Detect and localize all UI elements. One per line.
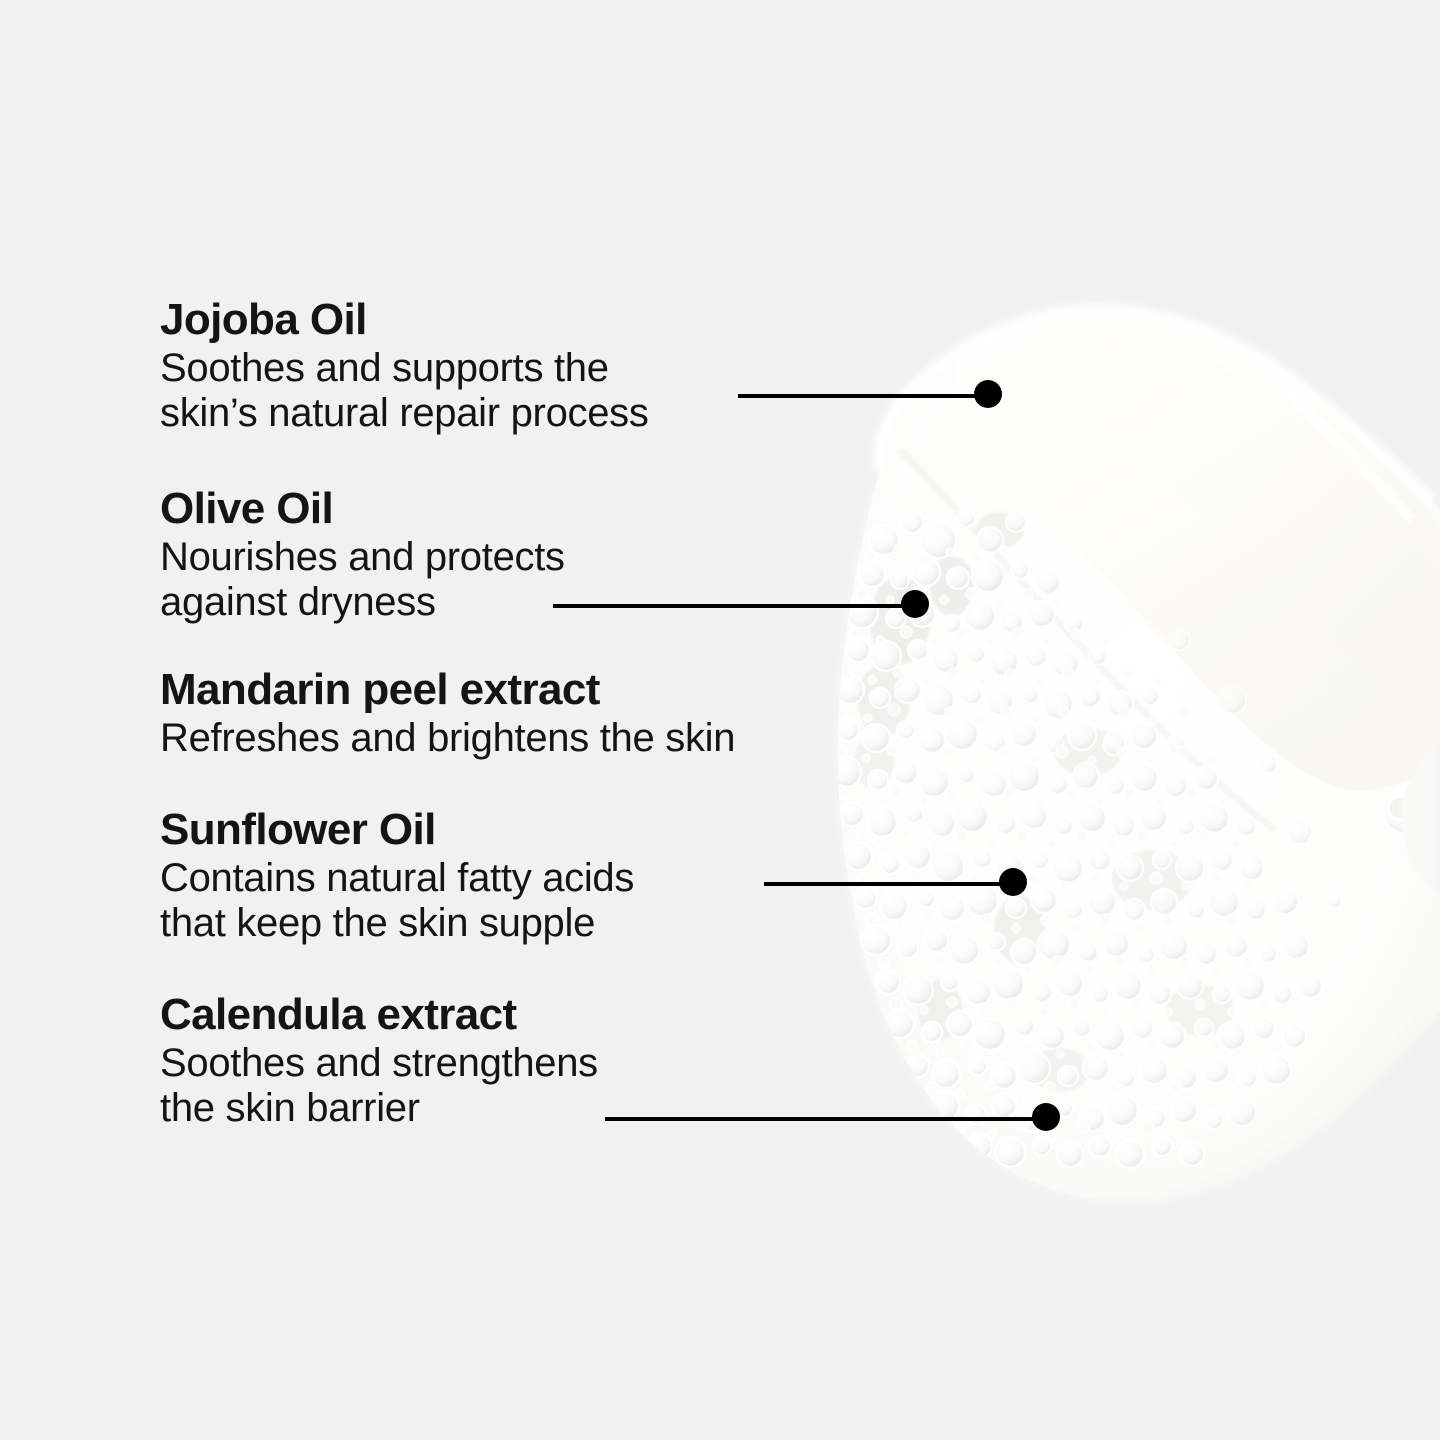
leader-dot-calendula xyxy=(1032,1103,1060,1131)
callout-description-calendula: Soothes and strengthens the skin barrier xyxy=(160,1041,598,1131)
leader-dot-sunflower xyxy=(999,868,1027,896)
callout-title-mandarin: Mandarin peel extract xyxy=(160,668,735,712)
callout-description-sunflower: Contains natural fatty acids that keep t… xyxy=(160,856,634,946)
leader-line-calendula xyxy=(605,1117,1034,1121)
leader-line-jojoba xyxy=(738,394,976,398)
callout-sunflower: Sunflower Oil Contains natural fatty aci… xyxy=(160,808,634,946)
leader-line-olive xyxy=(553,604,903,608)
callout-description-jojoba: Soothes and supports the skin’s natural … xyxy=(160,346,649,436)
callout-description-olive: Nourishes and protects against dryness xyxy=(160,535,565,625)
callout-description-mandarin: Refreshes and brightens the skin xyxy=(160,716,735,761)
callout-title-calendula: Calendula extract xyxy=(160,993,598,1037)
leader-dot-jojoba xyxy=(974,380,1002,408)
callout-jojoba: Jojoba Oil Soothes and supports the skin… xyxy=(160,298,649,436)
infographic-canvas: Jojoba Oil Soothes and supports the skin… xyxy=(0,0,1440,1440)
leader-dot-olive xyxy=(901,590,929,618)
callout-mandarin: Mandarin peel extract Refreshes and brig… xyxy=(160,668,735,761)
leader-line-sunflower xyxy=(764,882,1001,886)
callout-title-sunflower: Sunflower Oil xyxy=(160,808,634,852)
callout-title-olive: Olive Oil xyxy=(160,487,565,531)
callout-title-jojoba: Jojoba Oil xyxy=(160,298,649,342)
callout-calendula: Calendula extract Soothes and strengthen… xyxy=(160,993,598,1131)
callout-olive: Olive Oil Nourishes and protects against… xyxy=(160,487,565,625)
